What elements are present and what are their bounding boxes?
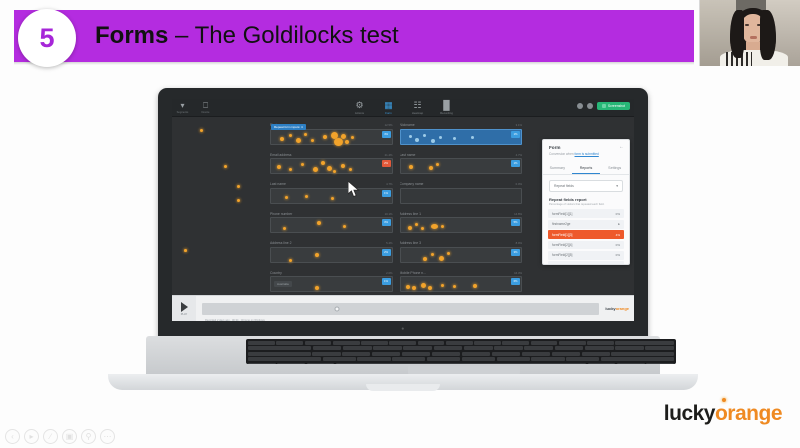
laptop-screen: ▾ Segments ⎕ Device ⚙ Actions	[172, 99, 634, 321]
gear-icon: ⚙	[355, 100, 363, 110]
list-item-label: formField[1][1]	[552, 212, 572, 216]
form-field-label: Company name	[400, 182, 424, 186]
form-field-pct: 2.0%	[386, 271, 392, 275]
form-input[interactable]: 3%	[400, 247, 523, 263]
list-item-value: 0%	[616, 212, 620, 216]
tab-form[interactable]: ▦ Form	[381, 100, 397, 115]
zoom-button[interactable]: ⚲	[81, 429, 96, 444]
form-field-label-wrap: Mobile Phone n... 16.3%	[400, 271, 523, 275]
form-field-label: Email address	[270, 153, 291, 157]
form-field-nickname[interactable]: Nickname 3.1%	[400, 123, 523, 145]
screenshot-glyph	[602, 104, 606, 108]
app-toolbar: ▾ Segments ⎕ Device ⚙ Actions	[172, 99, 634, 117]
form-field-badge: 2%	[382, 160, 391, 167]
panel-title: Form	[549, 145, 623, 150]
form-field-pct: 10.1%	[385, 212, 393, 216]
form-input[interactable]: 1%	[400, 158, 523, 174]
form-field-badge: 5%	[511, 219, 520, 226]
monitor-glyph: ⎕	[203, 101, 208, 110]
lucky-orange-app: ▾ Segments ⎕ Device ⚙ Actions	[172, 99, 634, 321]
form-field-pct: 14.8%	[514, 212, 522, 216]
logo-orange: orange	[715, 402, 782, 425]
tab-recording[interactable]: █ Recording	[439, 100, 455, 115]
laptop-base	[88, 336, 718, 394]
recording-player-bar: PLAY Recorded 2 days ago · 00:34 · Chrom…	[172, 295, 634, 321]
form-field-label: Address line 2	[270, 241, 292, 245]
filter-glyph: ▾	[180, 101, 184, 110]
scrubber-track[interactable]: Recorded 2 days ago · 00:34 · Chrome on …	[202, 303, 599, 315]
form-icon: ▦	[384, 100, 393, 110]
page-title: Forms – The Goldilocks test	[95, 22, 399, 50]
heatmap-dot	[237, 199, 240, 202]
panel-tabs: Summary Reports Settings	[543, 163, 629, 175]
close-icon[interactable]: ←	[619, 145, 624, 150]
form-heatmap-canvas[interactable]: First name 12.5% Repeat form inputs: 4	[172, 117, 634, 295]
heatmap-dot	[237, 185, 240, 188]
form-field-badge: 1%	[382, 190, 391, 197]
form-field-label: Nickname	[400, 123, 415, 127]
heatmap-icon: ☷	[413, 100, 421, 110]
form-input-empty[interactable]	[400, 188, 523, 204]
header-shadow	[14, 62, 694, 65]
form-field-badge: 6%	[511, 278, 520, 285]
form-field-pct: 4.7%	[516, 153, 522, 157]
form-field-label-wrap: Company name 0.0%	[400, 182, 523, 186]
play-label: PLAY	[181, 313, 187, 316]
form-field-label: Last name	[270, 182, 286, 186]
previous-slide-button[interactable]: ‹	[5, 429, 20, 444]
form-field-label-wrap: Nickname 3.1%	[400, 123, 523, 127]
tab-actions[interactable]: ⚙ Actions	[352, 100, 368, 115]
form-input[interactable]: Australia 1%	[270, 276, 393, 292]
form-field-label: Address line 1	[400, 212, 422, 216]
form-field-label-wrap: Last name 4.7%	[270, 182, 393, 186]
laptop-mockup: ▾ Segments ⎕ Device ⚙ Actions	[88, 88, 718, 400]
form-field-label: Address line 3	[400, 241, 422, 245]
form-input[interactable]: 3%	[270, 217, 393, 233]
player-logo-lucky: lucky	[605, 306, 615, 311]
form-row: Address line 2 5.4% 2%	[270, 241, 522, 263]
toolbar-right-group: Screenshot	[577, 102, 630, 110]
panel-tab-settings[interactable]: Settings	[600, 163, 629, 174]
form-field-label-wrap: Address line 1 14.8%	[400, 212, 523, 216]
form-field-badge: 1%	[511, 160, 520, 167]
form-field-first-name[interactable]: First name 12.5% Repeat form inputs: 4	[270, 123, 393, 145]
form-field-label-wrap: Address line 3 8.9%	[400, 241, 523, 245]
list-item-value: ▸	[618, 222, 620, 226]
list-item-highlighted[interactable]: formField[1][3] 4%	[548, 230, 624, 239]
logo-lucky: lucky	[664, 402, 715, 425]
panel-header: Form Conversion when form is submitted ←	[543, 140, 629, 159]
report-section-subtitle: Percentage of visitors that repeated eac…	[549, 203, 623, 206]
list-item[interactable]: formField[2][4] 0%	[548, 241, 624, 250]
form-field-badge: 1%	[511, 131, 520, 138]
list-item-label: formField[2][6]	[552, 264, 572, 265]
form-field-last-name-2[interactable]: Last name 4.7% 1%	[270, 182, 393, 204]
slide-canvas: 5 Forms – The Goldilocks test	[0, 0, 800, 448]
list-item-label: formField[2][4]	[552, 243, 572, 247]
heatmap-dot	[200, 129, 203, 132]
logo-dot	[722, 398, 726, 402]
repeat-fields-list: formField[1][1] 0% firstname2ge ▸ formFi…	[548, 209, 624, 265]
report-section-title: Repeat fields report	[549, 197, 623, 202]
presenter-eye-left	[745, 24, 749, 26]
form-field-company-name[interactable]: Company name 0.0%	[400, 182, 523, 204]
form-field-label: Phone number	[270, 212, 292, 216]
panel-tab-reports[interactable]: Reports	[572, 163, 601, 174]
screenshot-button[interactable]: ▣	[62, 429, 77, 444]
list-item[interactable]: formField[2][6] 0%	[548, 261, 624, 265]
form-row: Phone number 10.1% 3%	[270, 212, 522, 234]
scrubber-handle[interactable]	[335, 306, 340, 311]
play-icon	[181, 302, 188, 312]
form-field-badge: 2%	[382, 249, 391, 256]
laptop-lid: ▾ Segments ⎕ Device ⚙ Actions	[158, 88, 648, 340]
recording-meta: Recorded 2 days ago · 00:34 · Chrome on …	[205, 319, 265, 322]
lucky-orange-logo: luckyorange	[664, 402, 782, 426]
list-item-value: 0%	[616, 253, 620, 257]
form-field-label: Mobile Phone n...	[400, 271, 426, 275]
play-button[interactable]: PLAY	[172, 296, 196, 321]
panel-subtitle-link[interactable]: form is submitted	[575, 152, 599, 156]
form-input[interactable]: 2%	[270, 247, 393, 263]
presenter-hair-front-left	[730, 10, 744, 58]
form-field-label-wrap: Phone number 10.1%	[270, 212, 393, 216]
more-options-button[interactable]: ⋯	[100, 429, 115, 444]
form-field-address-1[interactable]: Address line 1 14.8%	[400, 212, 523, 234]
form-field-pct: 21.4%	[385, 153, 393, 157]
chevron-down-icon: ▾	[616, 184, 618, 188]
settings-icon[interactable]	[577, 103, 583, 109]
filter-icon[interactable]: ▾ Segments	[177, 101, 188, 114]
toolbar-left-group: ▾ Segments ⎕ Device	[177, 101, 211, 114]
tab-form-label: Form	[385, 111, 392, 115]
form-input[interactable]: 6%	[400, 276, 523, 292]
list-item-value: 0%	[616, 264, 620, 265]
form-row: Last name 4.7% 1%	[270, 182, 522, 204]
list-item[interactable]: firstname2ge ▸	[548, 220, 624, 229]
page-title-bold: Forms	[95, 22, 168, 49]
form-field-phone-number[interactable]: Phone number 10.1% 3%	[270, 212, 393, 234]
form-input[interactable]: Repeat form inputs: 4	[270, 129, 393, 145]
list-item-label: firstname2ge	[552, 222, 570, 226]
player-logo-orange: orange	[616, 306, 629, 311]
screenshot-button[interactable]: Screenshot	[597, 102, 630, 110]
panel-tab-summary[interactable]: Summary	[543, 163, 572, 174]
list-item[interactable]: formField[2][5] 0%	[548, 251, 624, 260]
form-field-label-wrap: Country 2.0%	[270, 271, 393, 275]
logo-orange-text: orange	[715, 402, 782, 425]
list-item-value: 0%	[616, 243, 620, 247]
filter-label: Segments	[177, 111, 189, 114]
panel-subtitle: Conversion when form is submitted	[549, 152, 623, 156]
form-input-selected[interactable]: 1%	[400, 129, 523, 145]
form-field-pct: 16.3%	[514, 271, 522, 275]
form-row: Email address 21.4%	[270, 153, 522, 175]
form-field-grid: First name 12.5% Repeat form inputs: 4	[270, 123, 522, 295]
report-type-value: Repeat fields	[554, 184, 574, 188]
form-field-badge: 3%	[382, 219, 391, 226]
form-field-pct: 5.4%	[386, 241, 392, 245]
heatmap-dot	[184, 249, 187, 252]
player-brand-logo: luckyorange	[605, 306, 629, 311]
form-field-badge: 4%	[382, 131, 391, 138]
tab-heatmap[interactable]: ☷ Heatmap	[410, 100, 426, 115]
form-field-badge: 1%	[382, 278, 391, 285]
form-field-pct: 12.5%	[385, 123, 393, 127]
pen-tool-button[interactable]: ∕	[43, 429, 58, 444]
form-field-pct: 0.0%	[516, 182, 522, 186]
form-field-address-2[interactable]: Address line 2 5.4% 2%	[270, 241, 393, 263]
form-row: First name 12.5% Repeat form inputs: 4	[270, 123, 522, 145]
country-value: Australia	[274, 281, 292, 287]
toolbar-tabs: ⚙ Actions ▦ Form ☷ Heatmap	[352, 100, 455, 115]
list-item-label: formField[1][3]	[552, 233, 572, 237]
form-field-label-wrap: Email address 21.4%	[270, 153, 393, 157]
form-input[interactable]: 1%	[270, 188, 393, 204]
form-input[interactable]: 2%	[270, 158, 393, 174]
form-field-label-wrap: Address line 2 5.4%	[270, 241, 393, 245]
form-field-email[interactable]: Email address 21.4%	[270, 153, 393, 175]
form-field-label: Country	[270, 271, 282, 275]
form-field-pct: 3.1%	[516, 123, 522, 127]
form-field-label: Last name	[400, 153, 416, 157]
laptop-trackpad	[408, 366, 520, 374]
presenter-webcam[interactable]	[699, 0, 800, 66]
step-number: 5	[39, 25, 54, 52]
form-field-last-name[interactable]: Last name 4.7% 1%	[400, 153, 523, 175]
laptop-base-top	[146, 336, 660, 376]
step-number-badge: 5	[18, 9, 76, 67]
form-field-pct: 8.9%	[516, 241, 522, 245]
form-field-country[interactable]: Country 2.0% Australia 1%	[270, 271, 393, 293]
recording-icon: █	[443, 100, 449, 110]
form-field-badge: 3%	[511, 249, 520, 256]
repeat-inputs-tooltip: Repeat form inputs: 4	[271, 124, 306, 130]
heatmap-dot	[224, 165, 227, 168]
form-row: Country 2.0% Australia 1%	[270, 271, 522, 293]
presentation-controls: ‹ ▸ ∕ ▣ ⚲ ⋯	[5, 429, 115, 444]
help-icon[interactable]	[587, 103, 593, 109]
laptop-keyboard	[246, 339, 676, 364]
form-field-label-wrap: Last name 4.7%	[400, 153, 523, 157]
monitor-label: Device	[202, 111, 210, 114]
form-input[interactable]: 5%	[400, 217, 523, 233]
list-item-value: 4%	[616, 233, 620, 237]
list-item[interactable]: formField[1][1] 0%	[548, 209, 624, 218]
form-field-pct: 4.7%	[386, 182, 392, 186]
presenter-hair-front-right	[760, 10, 776, 60]
page-title-rest: – The Goldilocks test	[168, 22, 398, 49]
report-type-select[interactable]: Repeat fields ▾	[549, 180, 623, 192]
presenter-mouth	[750, 36, 757, 39]
form-field-mobile-phone[interactable]: Mobile Phone n... 16.3%	[400, 271, 523, 293]
form-report-panel: Form Conversion when form is submitted ←…	[542, 139, 630, 265]
form-field-address-3[interactable]: Address line 3 8.9% 3%	[400, 241, 523, 263]
panel-subtitle-prefix: Conversion when	[549, 152, 575, 156]
screenshot-button-label: Screenshot	[608, 104, 625, 108]
play-button[interactable]: ▸	[24, 429, 39, 444]
list-item-label: formField[2][5]	[552, 253, 572, 257]
monitor-icon[interactable]: ⎕ Device	[200, 101, 211, 114]
laptop-chin: ●	[158, 322, 648, 336]
laptop-base-notch	[366, 384, 440, 391]
